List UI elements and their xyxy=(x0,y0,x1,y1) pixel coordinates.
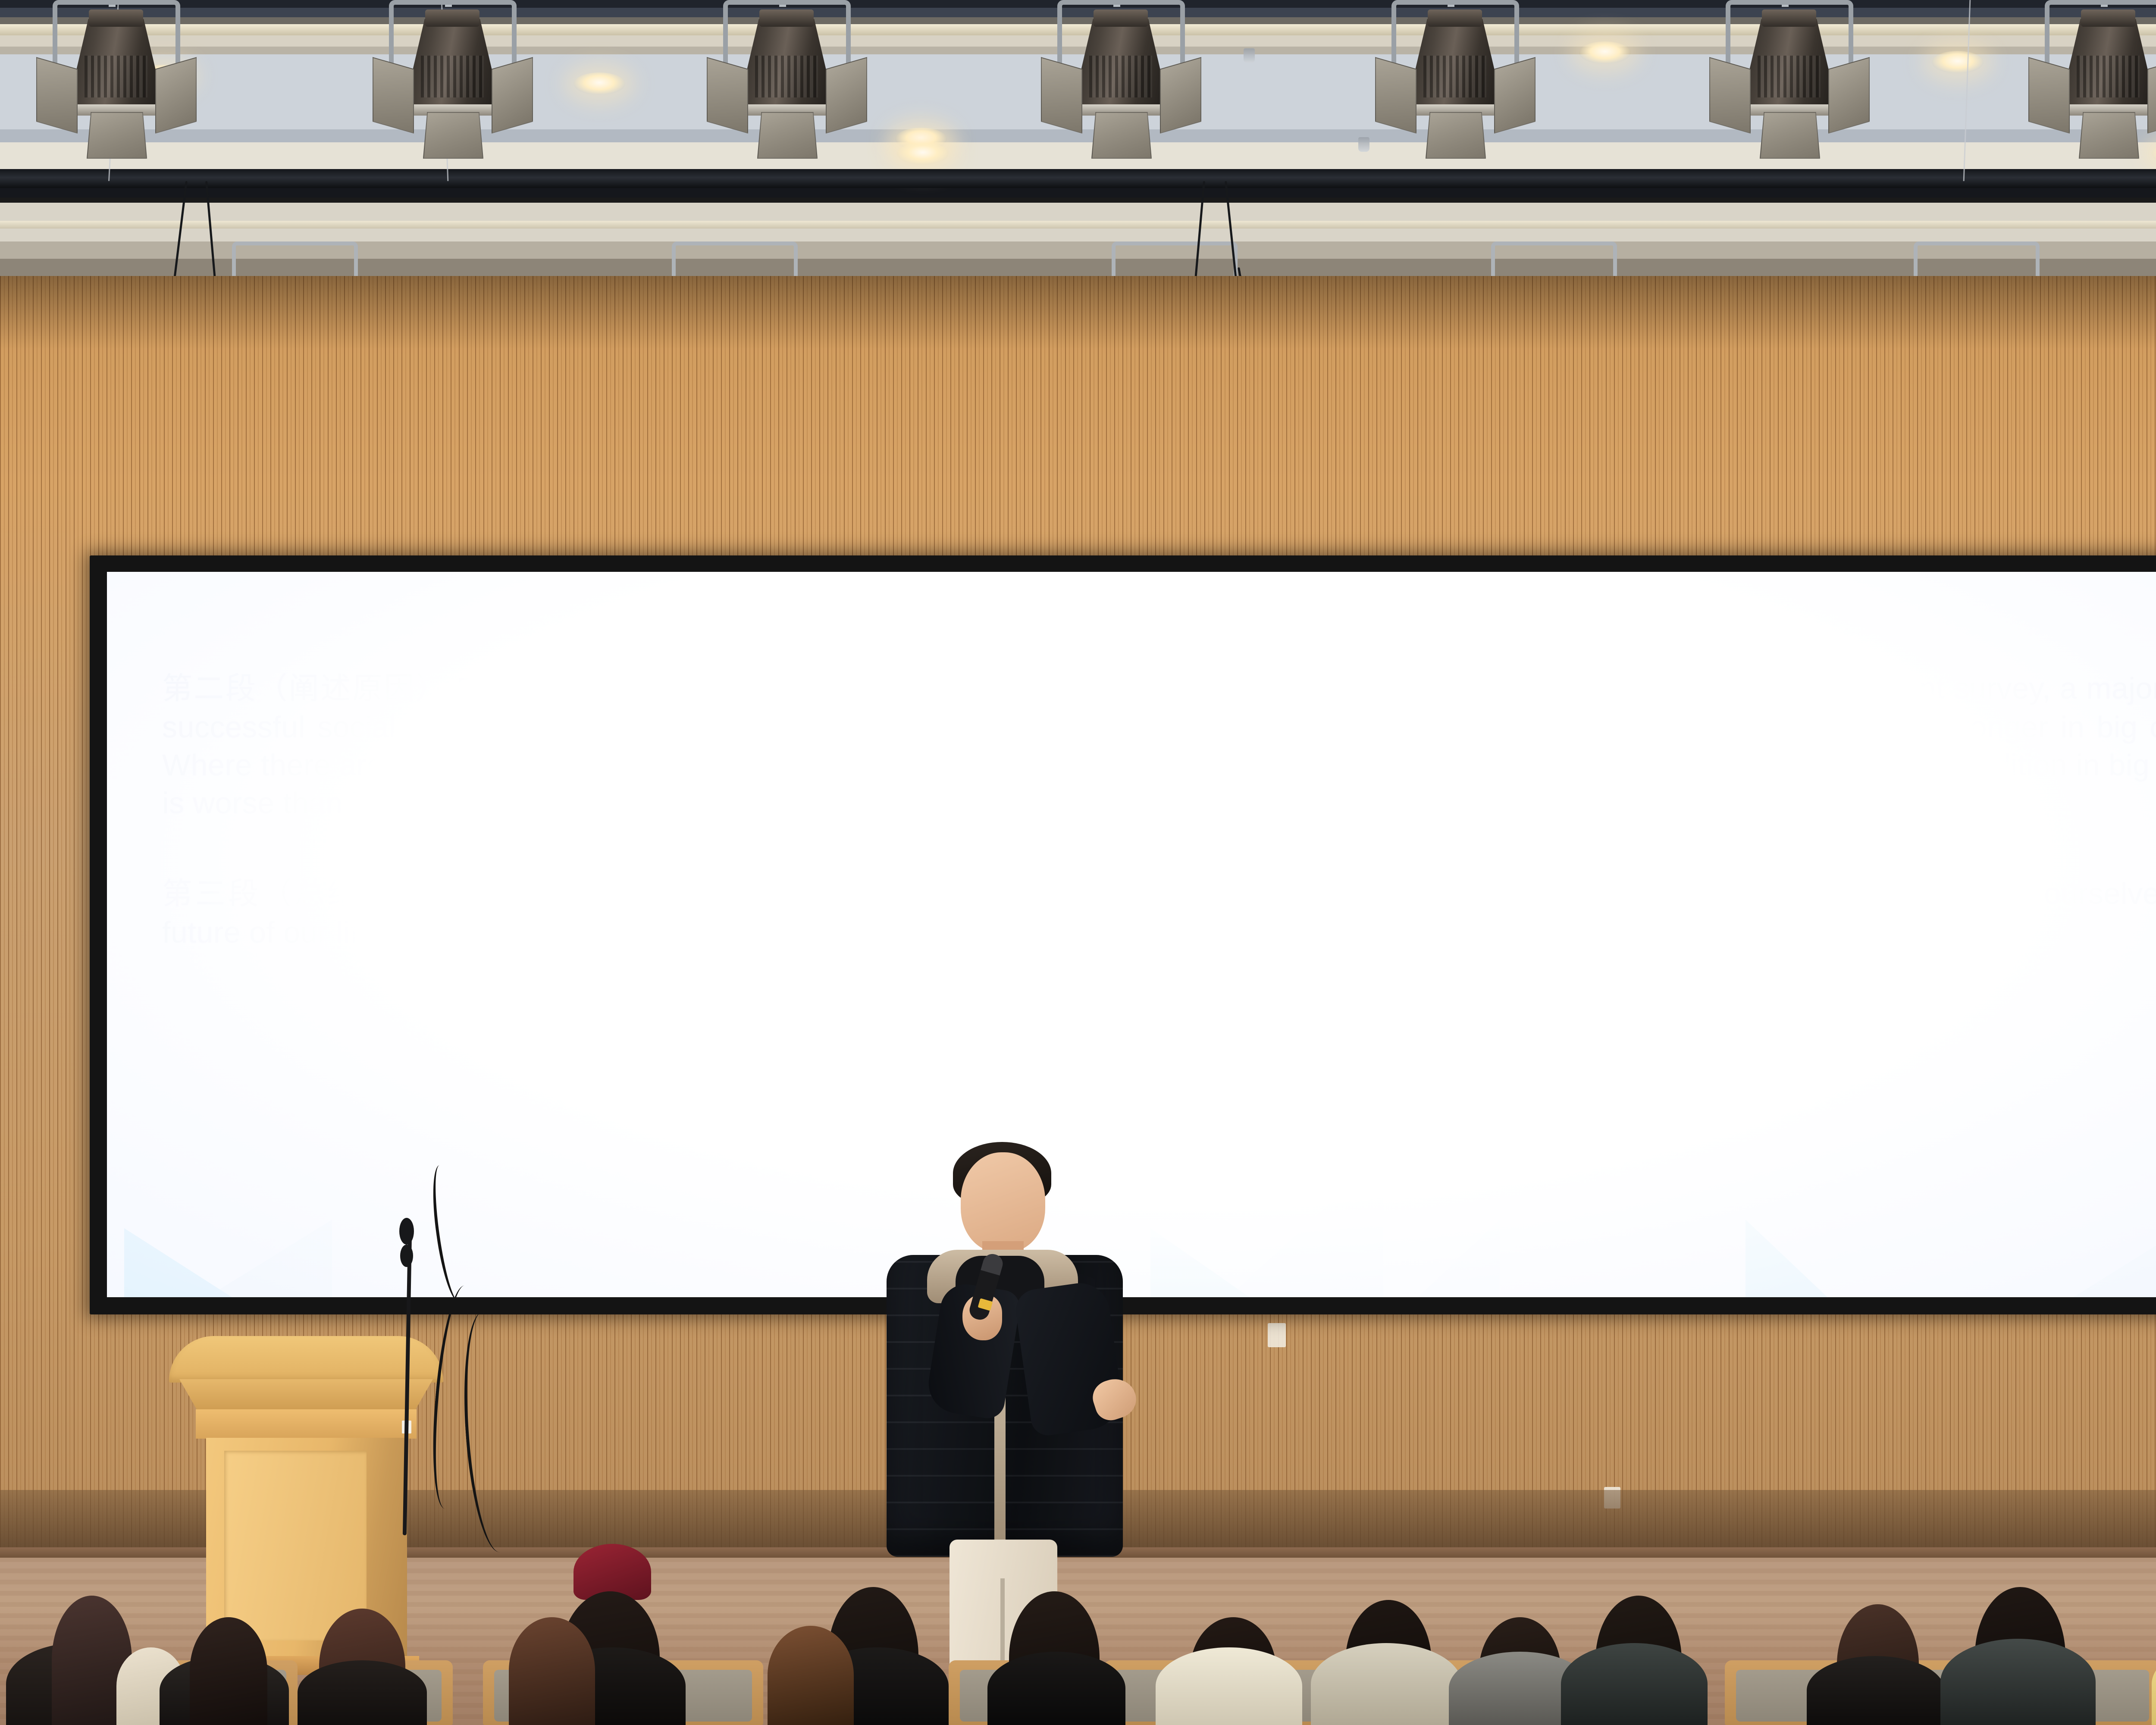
paragraph-2-label: 第二段（阐述原因） xyxy=(162,672,447,706)
decor-triangle-1 xyxy=(124,1228,232,1297)
audience-member xyxy=(1561,1643,1708,1725)
auditorium-scene: 现象描述型 第二段（阐述原因） First and foremost, ther… xyxy=(0,0,2156,1725)
downlight-icon xyxy=(1932,51,1984,73)
stage-spotlight-3 xyxy=(718,0,856,142)
audience-member xyxy=(1156,1647,1302,1725)
barn-door-right xyxy=(1494,57,1536,134)
barn-door-left xyxy=(36,57,78,134)
barn-door-bottom xyxy=(1091,112,1152,159)
barn-door-bottom xyxy=(87,112,147,159)
stage-spotlight-7 xyxy=(2040,0,2156,142)
slide-paragraph-2: 第二段（阐述原因） First and foremost, there is n… xyxy=(162,669,2156,822)
barn-door-right xyxy=(1828,57,1870,134)
barn-door-right xyxy=(826,57,867,134)
audience-member xyxy=(1940,1639,2096,1725)
spotlight-cap xyxy=(2081,9,2135,27)
audience-member-hair xyxy=(768,1626,854,1725)
podium-top xyxy=(169,1336,443,1383)
stage-spotlight-1 xyxy=(47,0,185,142)
stage-spotlight-6 xyxy=(1720,0,1858,142)
barn-door-left xyxy=(373,57,414,134)
barn-door-left xyxy=(1375,57,1416,134)
barn-door-bottom xyxy=(1760,112,1820,159)
slide-paragraph-3: 第三段（总结+提出建议） In a word, it is of great n… xyxy=(162,875,2156,951)
barn-door-bottom xyxy=(1426,112,1486,159)
lighting-truss-upper xyxy=(0,169,2156,188)
spotlight-cap xyxy=(759,9,814,27)
stage-spotlight-2 xyxy=(384,0,522,142)
presenter-head xyxy=(961,1152,1045,1252)
paragraph-2-text: First and foremost, there is no doubt th… xyxy=(162,671,2156,820)
podium-lip xyxy=(179,1379,433,1410)
spotlight-cap xyxy=(1762,9,1816,27)
ceiling-cove-strip-2 xyxy=(0,221,2156,229)
slide-title: 现象描述型 xyxy=(107,590,2156,652)
podium-mid xyxy=(196,1409,417,1439)
decor-triangle-2 xyxy=(207,1220,332,1297)
downlight-icon xyxy=(573,72,625,95)
spotlight-cap xyxy=(1094,9,1148,27)
spotlight-cap xyxy=(1428,9,1482,27)
smoke-detector-icon xyxy=(1244,48,1255,63)
microphone-capsule-icon xyxy=(400,1245,413,1267)
paragraph-3-label: 第三段（总结+提出建议） xyxy=(162,878,546,911)
audience-member xyxy=(298,1660,427,1725)
barn-door-right xyxy=(1160,57,1201,134)
barn-door-bottom xyxy=(757,112,818,159)
wall-outlet-plate xyxy=(1268,1323,1286,1347)
barn-door-left xyxy=(2028,57,2070,134)
audience xyxy=(0,1535,2156,1725)
audience-member xyxy=(1311,1643,1462,1725)
stage-spotlight-4 xyxy=(1052,0,1190,142)
sprinkler-head-icon xyxy=(1358,137,1369,152)
barn-door-right xyxy=(2147,57,2156,134)
barn-door-left xyxy=(1709,57,1751,134)
stage-spotlight-5 xyxy=(1386,0,1524,142)
downlight-icon xyxy=(897,142,949,165)
downlight-icon xyxy=(1579,41,1631,64)
audience-member-hair xyxy=(509,1617,595,1725)
audience-member xyxy=(987,1652,1125,1725)
barn-door-right xyxy=(492,57,533,134)
spotlight-cap xyxy=(425,9,479,27)
decor-triangle-4 xyxy=(1228,1155,1383,1297)
barn-door-left xyxy=(707,57,748,134)
spotlight-cap xyxy=(89,9,143,27)
barn-door-bottom xyxy=(423,112,483,159)
barn-door-bottom xyxy=(2079,112,2139,159)
decor-triangle-7 xyxy=(2073,1233,2156,1297)
barn-door-right xyxy=(155,57,197,134)
microphone-capsule-icon xyxy=(399,1218,414,1245)
wall-top-shadow xyxy=(0,276,2156,349)
decor-triangle-6 xyxy=(1745,1220,1827,1297)
decor-triangle-5 xyxy=(1418,1220,1500,1297)
decor-triangle-3 xyxy=(1150,1228,1250,1297)
audience-member-hair xyxy=(190,1617,267,1725)
audience-member xyxy=(1807,1656,1945,1725)
barn-door-left xyxy=(1041,57,1082,134)
